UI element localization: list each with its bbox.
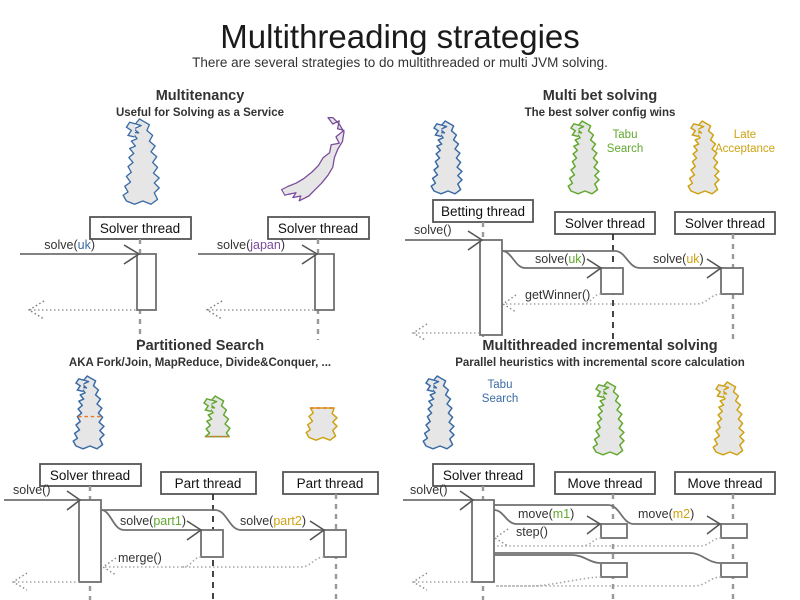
sequence-diagram-incremental: Tabu Search Solver thread solve() Move t bbox=[400, 338, 800, 600]
activation-bar-move-2-b bbox=[721, 563, 747, 577]
lifeline-label: Solver thread bbox=[50, 468, 130, 483]
message-label-solve-entry: solve() bbox=[13, 483, 51, 497]
message-label-solve-uk-green: solve(uk) bbox=[535, 252, 586, 266]
message-label-solve-uk: solve(uk) bbox=[44, 238, 95, 252]
activation-bar-solver bbox=[79, 500, 101, 582]
panel-partitioned-search: Partitioned Search AKA Fork/Join, MapRed… bbox=[0, 338, 400, 600]
return-arrow-move-2-b bbox=[496, 577, 721, 586]
panel-multitenancy: Multitenancy Useful for Solving as a Ser… bbox=[0, 88, 400, 340]
map-label-tabu-search-line2: Search bbox=[607, 143, 643, 155]
activation-bar-move-1-a bbox=[601, 524, 627, 538]
lifeline-label: Solver thread bbox=[565, 216, 645, 231]
uk-map-gold-bottom bbox=[306, 408, 337, 440]
return-arrow-move-1-a bbox=[582, 538, 601, 546]
uk-map-blue bbox=[423, 376, 454, 449]
activation-bar-part-2 bbox=[324, 530, 346, 557]
lifeline-label: Solver thread bbox=[685, 216, 765, 231]
message-label-solve-entry: solve() bbox=[410, 483, 448, 497]
lifeline-label: Solver thread bbox=[443, 468, 523, 483]
lifeline-label: Part thread bbox=[297, 476, 364, 491]
page-title: Multithreading strategies bbox=[0, 18, 800, 56]
message-label-solve-uk-gold: solve(uk) bbox=[653, 252, 704, 266]
sequence-diagram-partitioned: Solver thread solve() Part thread solve(… bbox=[0, 338, 400, 600]
message-label-step: step() bbox=[516, 525, 548, 539]
activation-bar-solver-2 bbox=[721, 268, 743, 294]
message-label-solve-part2: solve(part2) bbox=[240, 514, 306, 528]
message-label-get-winner: getWinner() bbox=[525, 288, 590, 302]
map-label-late-acceptance-line2: Acceptance bbox=[715, 143, 775, 155]
panel-multithreaded-incremental: Multithreaded incremental solving Parall… bbox=[400, 338, 800, 600]
activation-bar-move-2-a bbox=[721, 524, 747, 538]
message-label-merge: merge() bbox=[118, 551, 162, 565]
return-arrow-move-1-b bbox=[496, 577, 601, 586]
sequence-diagram-multi-bet: Tabu Search Late Acceptance Betting thre… bbox=[400, 88, 800, 340]
uk-map-gold bbox=[688, 121, 719, 194]
lifeline-label: Solver thread bbox=[100, 221, 180, 236]
activation-bar-betting bbox=[480, 240, 502, 335]
message-label-move-m2: move(m2) bbox=[638, 507, 694, 521]
activation-bar-solver bbox=[472, 500, 494, 582]
uk-map-green-top bbox=[204, 396, 230, 437]
message-label-solve-entry: solve() bbox=[414, 223, 452, 237]
uk-map-blue bbox=[431, 121, 462, 194]
activation-bar bbox=[315, 254, 334, 310]
activation-bar-move-1-b bbox=[601, 563, 627, 577]
message-arrow-move-round2-1 bbox=[494, 555, 600, 563]
lifeline-label: Solver thread bbox=[278, 221, 358, 236]
slide-root: Multithreading strategies There are seve… bbox=[0, 0, 800, 600]
return-arrowhead-step bbox=[495, 529, 508, 546]
message-label-move-m1: move(m1) bbox=[518, 507, 574, 521]
return-arrow-part1 bbox=[182, 557, 201, 567]
panel-multi-bet-solving: Multi bet solving The best solver config… bbox=[400, 88, 800, 340]
uk-map-green bbox=[593, 382, 624, 455]
arrowhead bbox=[707, 516, 720, 534]
lifeline-label: Betting thread bbox=[441, 204, 525, 219]
message-label-solve-part1: solve(part1) bbox=[120, 514, 186, 528]
japan-map-purple bbox=[282, 118, 344, 201]
activation-bar-solver-1 bbox=[601, 268, 623, 294]
activation-bar-part-1 bbox=[201, 530, 223, 557]
lifeline-label: Move thread bbox=[567, 476, 642, 491]
uk-map-green bbox=[568, 121, 599, 194]
lifeline-label: Part thread bbox=[175, 476, 242, 491]
uk-map-gold bbox=[713, 382, 744, 455]
sequence-diagram-multitenancy: Solver thread solve(uk) Solver thread so… bbox=[0, 88, 400, 340]
return-arrow-move-2-a bbox=[496, 538, 721, 546]
map-label-late-acceptance-line1: Late bbox=[734, 129, 756, 141]
map-label-tabu-search-line1: Tabu bbox=[613, 129, 638, 141]
page-subtitle: There are several strategies to do multi… bbox=[0, 55, 800, 70]
activation-bar bbox=[137, 254, 156, 310]
uk-map-blue-split bbox=[73, 376, 104, 449]
map-label-tabu-search-line1: Tabu bbox=[488, 379, 513, 391]
message-label-solve-japan: solve(japan) bbox=[217, 238, 285, 252]
lifeline-label: Move thread bbox=[687, 476, 762, 491]
uk-map-blue bbox=[123, 119, 159, 204]
map-label-tabu-search-line2: Search bbox=[482, 393, 518, 405]
arrowhead bbox=[587, 516, 600, 534]
